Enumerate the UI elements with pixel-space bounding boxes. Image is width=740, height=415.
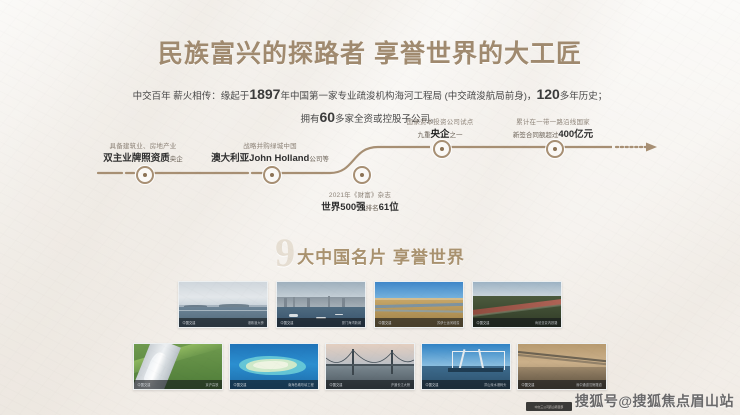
photo-card[interactable]: 中国交建 南海岛礁吹填工程 xyxy=(229,343,319,390)
milestone-3-main-text: 央企 xyxy=(430,129,449,140)
timeline-node-3[interactable] xyxy=(353,166,371,184)
photo-caption-left: 中国交建 xyxy=(183,320,196,325)
intro-line1-part-a: 中交百年 薪火相传：缘起于 xyxy=(133,91,250,102)
watermark: 中交三公司眉山项目部 搜狐号@搜狐焦点眉山站 xyxy=(526,391,734,411)
photo-caption: 中国交建 肯尼亚蒙内铁路 xyxy=(473,318,561,327)
intro-line1-part-c: 多年历史； xyxy=(560,91,608,102)
photo-caption-right: 南海岛礁吹填工程 xyxy=(288,382,314,387)
milestone-3: 国家资本投资公司试点 九重央企之一 xyxy=(407,118,474,142)
photo-card[interactable]: 中国交建 港珠澳大桥 xyxy=(178,281,268,328)
photo-caption-right: 洋山深水港码头 xyxy=(484,382,506,387)
photo-card[interactable]: 中国交建 沪通长江大桥 xyxy=(325,343,415,390)
milestone-3-main-small: 之一 xyxy=(450,132,463,139)
milestone-1-main: 双主业牌照资质央企 xyxy=(103,152,183,166)
timeline: 具备建筑业、房地产业 双主业牌照资质央企 战略并购绿城中国 澳大利亚John H… xyxy=(0,125,740,220)
photo-grid-top: 中国交建 港珠澳大桥 中国交建 厦门海湾新城 xyxy=(0,281,740,328)
photo-caption: 中国交建 京沪高铁 xyxy=(134,380,222,389)
milestone-4-sub: 累计在一带一路沿线国家 xyxy=(513,118,593,128)
photo-caption-right: 深中通道沉管隧道 xyxy=(576,382,602,387)
photo-caption: 中国交建 洋山深水港码头 xyxy=(422,380,510,389)
milestone-below-main-rank: 61位 xyxy=(379,202,399,213)
photo-card[interactable]: 中国交建 深中通道沉管隧道 xyxy=(517,343,607,390)
milestone-1-sub: 具备建筑业、房地产业 xyxy=(103,142,183,152)
photo-caption-left: 中国交建 xyxy=(379,320,392,325)
milestone-below-main-small: 排名 xyxy=(366,205,379,212)
photo-caption-left: 中国交建 xyxy=(234,382,247,387)
milestone-1-main-small: 央企 xyxy=(170,156,183,163)
timeline-node-2[interactable] xyxy=(263,166,281,184)
photo-caption-right: 港珠澳大桥 xyxy=(247,320,263,325)
watermark-badge: 中交三公司眉山项目部 xyxy=(526,402,572,411)
photo-caption-right: 肯尼亚蒙内铁路 xyxy=(535,320,557,325)
milestone-3-main-pre: 九重 xyxy=(417,132,430,139)
milestone-4-main: 新签合同额超过400亿元 xyxy=(513,128,593,142)
photo-caption-left: 中国交建 xyxy=(281,320,294,325)
milestone-4: 累计在一带一路沿线国家 新签合同额超过400亿元 xyxy=(513,118,593,142)
photo-caption-left: 中国交建 xyxy=(138,382,151,387)
photo-caption: 中国交建 港珠澳大桥 xyxy=(179,318,267,327)
photo-card[interactable]: 中国交建 肯尼亚蒙内铁路 xyxy=(472,281,562,328)
intro-number-120: 120 xyxy=(536,86,559,102)
photo-caption-left: 中国交建 xyxy=(330,382,343,387)
section-heading-block: 9大中国名片 享誉世界 xyxy=(0,238,740,272)
milestone-below-sub: 2021年《财富》杂志 xyxy=(321,191,398,201)
milestone-2: 战略并购绿城中国 澳大利亚John Holland公司等 xyxy=(211,142,329,166)
photo-caption-left: 中国交建 xyxy=(426,382,439,387)
photo-caption: 中国交建 苏伊士运河疏浚 xyxy=(375,318,463,327)
milestone-3-sub: 国家资本投资公司试点 xyxy=(407,118,474,128)
timeline-node-5[interactable] xyxy=(546,140,564,158)
photo-card[interactable]: 中国交建 洋山深水港码头 xyxy=(421,343,511,390)
intro-number-60: 60 xyxy=(319,109,335,125)
milestone-below-2021: 2021年《财富》杂志 世界500强排名61位 xyxy=(321,191,398,215)
photo-card[interactable]: 中国交建 厦门海湾新城 xyxy=(276,281,366,328)
photo-caption-left: 中国交建 xyxy=(522,382,535,387)
timeline-node-1[interactable] xyxy=(136,166,154,184)
photo-caption-left: 中国交建 xyxy=(477,320,490,325)
page-title: 民族富兴的探路者 享誉世界的大工匠 xyxy=(0,34,740,70)
photo-caption: 中国交建 深中通道沉管隧道 xyxy=(518,380,606,389)
slide-canvas: 民族富兴的探路者 享誉世界的大工匠 中交百年 薪火相传：缘起于1897年中国第一… xyxy=(0,0,740,415)
photo-card[interactable]: 中国交建 苏伊士运河疏浚 xyxy=(374,281,464,328)
photo-caption: 中国交建 南海岛礁吹填工程 xyxy=(230,380,318,389)
milestone-2-sub: 战略并购绿城中国 xyxy=(211,142,329,152)
intro-line1-part-b: 年中国第一家专业疏浚机构海河工程局 (中交疏浚航局前身)， xyxy=(280,91,536,102)
intro-line2-part-a: 拥有 xyxy=(300,114,319,125)
milestone-1: 具备建筑业、房地产业 双主业牌照资质央企 xyxy=(103,142,183,166)
photo-caption-right: 苏伊士运河疏浚 xyxy=(437,320,459,325)
milestone-2-main-small: 公司等 xyxy=(309,156,329,163)
milestone-2-main: 澳大利亚John Holland公司等 xyxy=(211,152,329,166)
photo-caption: 中国交建 沪通长江大桥 xyxy=(326,380,414,389)
milestone-below-main-text: 世界500强 xyxy=(321,202,365,213)
watermark-text: 搜狐号@搜狐焦点眉山站 xyxy=(575,391,734,411)
milestone-2-main-text: 澳大利亚John Holland xyxy=(211,153,309,164)
nine-badge-icon: 9 xyxy=(275,236,295,270)
watermark-badge-text: 中交三公司眉山项目部 xyxy=(535,404,564,409)
photo-card[interactable]: 中国交建 京沪高铁 xyxy=(133,343,223,390)
timeline-arrow-icon xyxy=(646,143,657,152)
milestone-4-main-pre: 新签合同额超过 xyxy=(513,132,559,139)
timeline-node-4[interactable] xyxy=(433,140,451,158)
photo-caption: 中国交建 厦门海湾新城 xyxy=(277,318,365,327)
milestone-1-main-text: 双主业牌照资质 xyxy=(103,153,170,164)
section-heading: 大中国名片 享誉世界 xyxy=(297,243,465,268)
photo-caption-right: 厦门海湾新城 xyxy=(342,320,361,325)
milestone-below-main: 世界500强排名61位 xyxy=(321,201,398,215)
photo-grid-bottom: 中国交建 京沪高铁 中国交建 南海岛礁吹填工程 xyxy=(0,343,740,390)
milestone-3-main: 九重央企之一 xyxy=(407,128,474,142)
milestone-4-main-text: 400亿元 xyxy=(558,129,593,140)
intro-year-1897: 1897 xyxy=(249,86,280,102)
photo-caption-right: 沪通长江大桥 xyxy=(391,382,410,387)
photo-caption-right: 京沪高铁 xyxy=(206,382,219,387)
